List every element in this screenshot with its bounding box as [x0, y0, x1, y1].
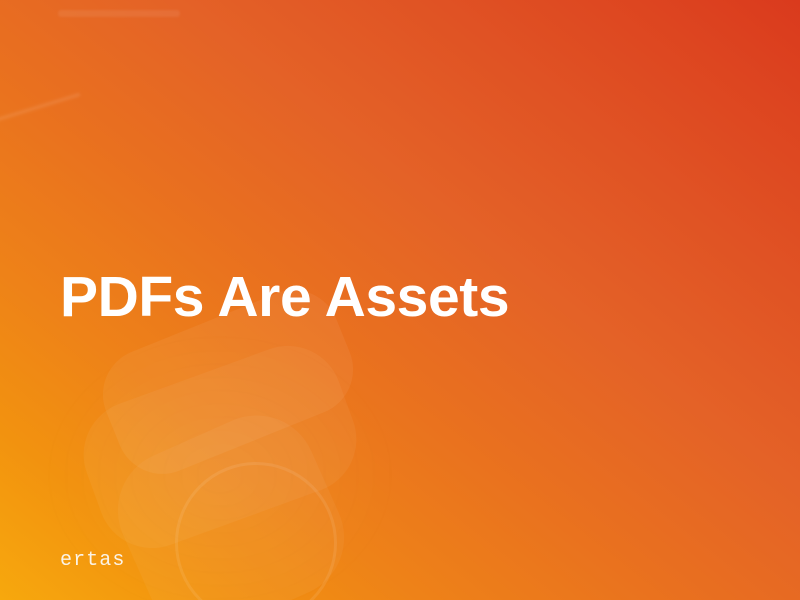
slide-title: PDFs Are Assets [60, 266, 509, 330]
slide-content: PDFs Are Assets ertas [0, 0, 800, 600]
presentation-slide: PDFs Are Assets ertas [0, 0, 800, 600]
slide-footer-label: ertas [60, 549, 126, 572]
